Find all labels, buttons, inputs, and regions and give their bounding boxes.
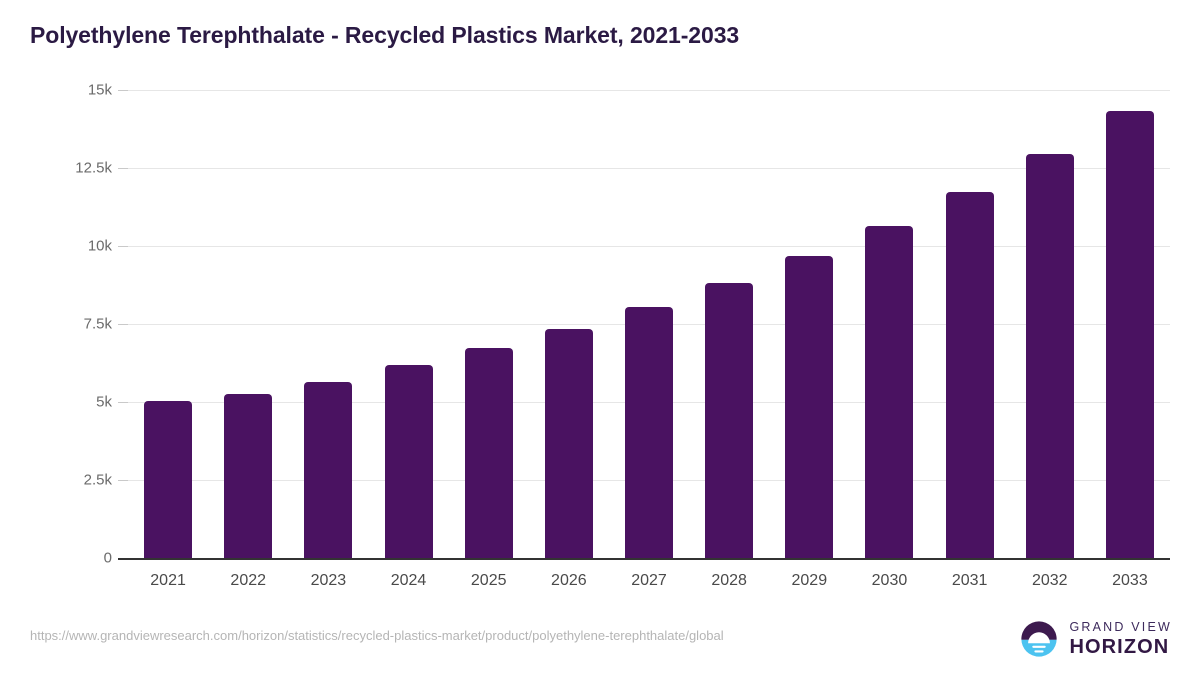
gridline — [128, 246, 1170, 247]
source-url[interactable]: https://www.grandviewresearch.com/horizo… — [30, 628, 724, 643]
y-tick-mark — [118, 90, 128, 91]
bar-2022[interactable] — [224, 394, 272, 558]
gridline — [128, 168, 1170, 169]
x-tick-label: 2026 — [524, 572, 614, 590]
brand-logo: GRAND VIEW HORIZON — [1018, 618, 1172, 660]
chart-page: Polyethylene Terephthalate - Recycled Pl… — [0, 0, 1200, 675]
bar-2028[interactable] — [705, 283, 753, 558]
bar-2023[interactable] — [304, 382, 352, 558]
x-tick-label: 2025 — [444, 572, 534, 590]
y-tick-label: 5k — [96, 394, 112, 411]
x-tick-label: 2028 — [684, 572, 774, 590]
chart-canvas: Market Size (US$M) 02.5k5k7.5k10k12.5k15… — [0, 0, 1200, 675]
bar-2030[interactable] — [865, 226, 913, 558]
bar-2024[interactable] — [385, 365, 433, 558]
bar-2033[interactable] — [1106, 111, 1154, 558]
y-tick-label: 2.5k — [84, 472, 112, 489]
x-tick-label: 2022 — [203, 572, 293, 590]
bar-2026[interactable] — [545, 329, 593, 558]
y-tick-label: 12.5k — [75, 160, 112, 177]
y-tick-mark — [118, 324, 128, 325]
gridline — [128, 90, 1170, 91]
grand-view-horizon-logo-icon — [1018, 618, 1060, 660]
x-tick-label: 2031 — [925, 572, 1015, 590]
x-tick-label: 2023 — [283, 572, 373, 590]
bar-2021[interactable] — [144, 401, 192, 558]
x-tick-label: 2033 — [1085, 572, 1175, 590]
logo-wordmark: GRAND VIEW HORIZON — [1069, 621, 1172, 657]
logo-top-text: GRAND VIEW — [1069, 621, 1172, 634]
x-tick-label: 2030 — [844, 572, 934, 590]
plot-area — [128, 90, 1170, 558]
y-tick-label: 10k — [88, 238, 112, 255]
y-tick-label: 0 — [104, 550, 112, 567]
x-tick-label: 2024 — [364, 572, 454, 590]
y-tick-label: 15k — [88, 82, 112, 99]
x-tick-label: 2032 — [1005, 572, 1095, 590]
x-tick-label: 2021 — [123, 572, 213, 590]
y-tick-mark — [118, 402, 128, 403]
y-tick-mark — [118, 168, 128, 169]
x-tick-label: 2027 — [604, 572, 694, 590]
x-tick-label: 2029 — [764, 572, 854, 590]
bar-2031[interactable] — [946, 192, 994, 558]
y-tick-mark — [118, 480, 128, 481]
logo-bottom-text: HORIZON — [1069, 637, 1172, 657]
y-tick-label: 7.5k — [84, 316, 112, 333]
bar-2029[interactable] — [785, 256, 833, 558]
bar-2027[interactable] — [625, 307, 673, 558]
y-tick-mark — [118, 246, 128, 247]
x-axis-line — [118, 558, 1170, 560]
bar-2032[interactable] — [1026, 154, 1074, 558]
bar-2025[interactable] — [465, 348, 513, 558]
